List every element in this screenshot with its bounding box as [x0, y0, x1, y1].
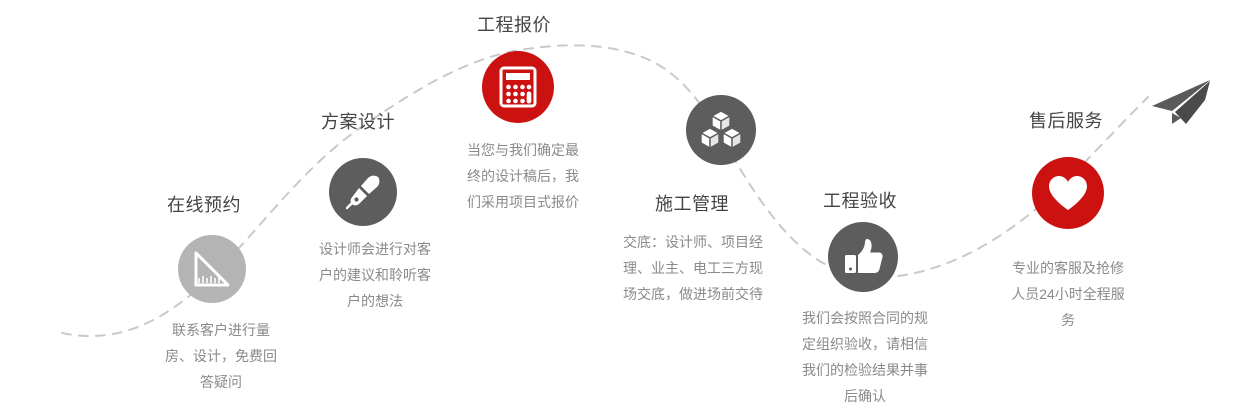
- thumbs-up-icon: [828, 222, 898, 292]
- step-6-description: 专业的客服及抢修 人员24小时全程服 务: [978, 255, 1158, 333]
- step-5-title: 工程验收: [823, 192, 897, 210]
- step-1-title: 在线预约: [167, 196, 241, 214]
- step-1-description: 联系客户进行量 房、设计，免费回 答疑问: [131, 317, 311, 395]
- step-4-title: 施工管理: [655, 195, 729, 213]
- set-square-ruler-icon: [178, 235, 246, 303]
- heart-icon: [1032, 157, 1104, 229]
- step-2-description: 设计师会进行对客 户的建议和聆听客 户的想法: [285, 236, 465, 314]
- step-2-title: 方案设计: [321, 113, 395, 131]
- stacked-cubes-icon: [686, 95, 756, 165]
- step-5-description: 我们会按照合同的规 定组织验收，请相信 我们的检验结果并事 后确认: [770, 305, 960, 409]
- calculator-icon: [482, 51, 554, 123]
- fountain-pen-nib-icon: [329, 158, 397, 226]
- paper-plane-icon: [1148, 78, 1214, 133]
- process-flow-diagram: 在线预约 联系客户进行量 房、设计，免费回 答疑问 方案设计 设计师会进行对客 …: [0, 0, 1245, 402]
- step-4-description: 交底：设计师、项目经 理、业主、电工三方现 场交底，做进场前交待: [603, 229, 783, 307]
- step-3-title: 工程报价: [477, 16, 551, 34]
- step-3-description: 当您与我们确定最 终的设计稿后，我 们采用项目式报价: [428, 137, 618, 215]
- step-6-title: 售后服务: [1029, 112, 1103, 130]
